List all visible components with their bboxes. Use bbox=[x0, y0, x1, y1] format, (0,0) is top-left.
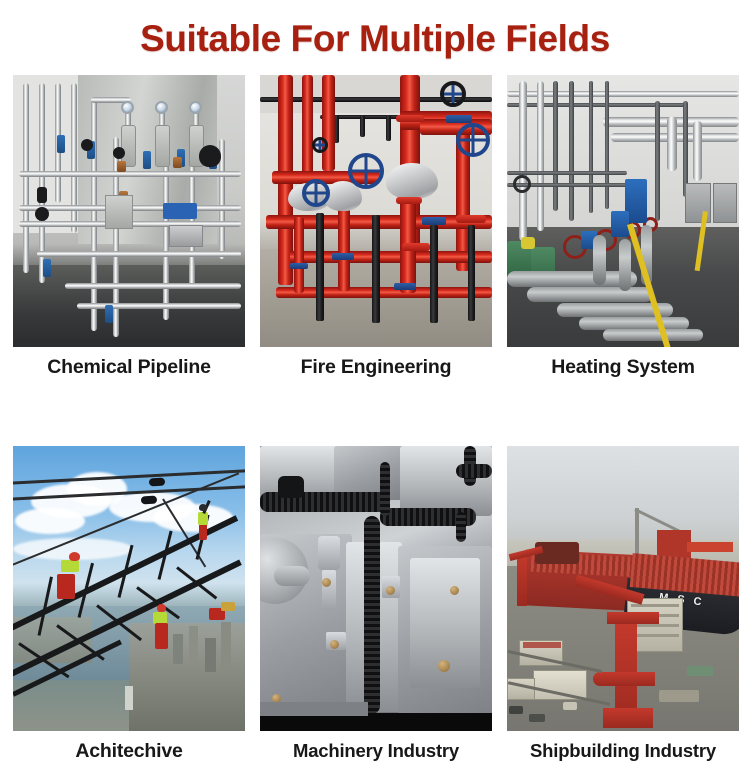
pressure-gauge-icon bbox=[155, 101, 168, 114]
valve-icon bbox=[105, 305, 113, 323]
field-card-chemical-pipeline[interactable]: Chemical Pipeline bbox=[13, 75, 245, 379]
valve-icon bbox=[43, 259, 51, 277]
valve-icon bbox=[143, 151, 151, 169]
handwheel-icon bbox=[440, 81, 466, 107]
caption-machinery-industry: Machinery Industry bbox=[260, 740, 492, 762]
worker-figure bbox=[199, 524, 207, 540]
page-title: Suitable For Multiple Fields bbox=[0, 18, 750, 60]
photo-heating-system bbox=[507, 75, 739, 347]
field-card-shipbuilding-industry[interactable]: M S C bbox=[507, 446, 739, 763]
handwheel-icon bbox=[456, 123, 490, 157]
fields-grid: Chemical Pipeline bbox=[13, 75, 739, 763]
caption-chemical-pipeline: Chemical Pipeline bbox=[13, 356, 245, 379]
handwheel-icon bbox=[513, 175, 531, 193]
valve-icon bbox=[386, 163, 438, 199]
hose-icon bbox=[456, 512, 466, 542]
field-card-fire-engineering[interactable]: Fire Engineering bbox=[260, 75, 492, 379]
bolt-icon bbox=[386, 586, 395, 595]
field-card-machinery-industry[interactable]: Machinery Industry bbox=[260, 446, 492, 763]
photo-achitechive bbox=[13, 446, 245, 731]
handwheel-icon bbox=[302, 179, 330, 207]
field-card-achitechive[interactable]: Achitechive bbox=[13, 446, 245, 763]
handwheel-icon bbox=[312, 137, 328, 153]
bolt-icon bbox=[322, 578, 331, 587]
photo-chemical-pipeline bbox=[13, 75, 245, 347]
hose-icon bbox=[380, 462, 390, 516]
pressure-gauge-icon bbox=[189, 101, 202, 114]
field-card-heating-system[interactable]: Heating System bbox=[507, 75, 739, 379]
caption-heating-system: Heating System bbox=[507, 356, 739, 379]
poster-page: Suitable For Multiple Fields bbox=[0, 0, 750, 750]
photo-shipbuilding-industry: M S C bbox=[507, 446, 739, 731]
bolt-icon bbox=[330, 640, 339, 649]
photo-fire-engineering bbox=[260, 75, 492, 347]
handwheel-icon bbox=[348, 153, 384, 189]
caption-shipbuilding-industry: Shipbuilding Industry bbox=[507, 740, 739, 762]
photo-machinery-industry bbox=[260, 446, 492, 731]
bolt-icon bbox=[438, 660, 450, 672]
bolt-icon bbox=[450, 586, 459, 595]
hose-icon bbox=[456, 464, 492, 478]
hose-icon bbox=[364, 516, 380, 714]
valve-icon bbox=[57, 135, 65, 153]
pressure-gauge-icon bbox=[121, 101, 134, 114]
worker-figure bbox=[57, 574, 75, 599]
caption-achitechive: Achitechive bbox=[13, 740, 245, 763]
caption-fire-engineering: Fire Engineering bbox=[260, 356, 492, 379]
